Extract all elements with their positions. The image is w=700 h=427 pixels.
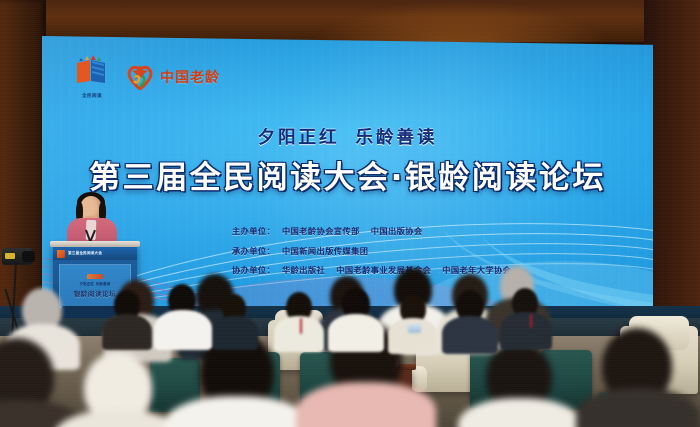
organizer-value: 中国出版协会 [371,226,423,236]
organizer-label: 承办单位： [232,242,282,262]
lanyard [300,318,302,334]
audience-shoulders [500,312,552,350]
organizer-row: 主办单位：中国老龄协会宣传部中国出版协会 [232,222,522,242]
organizer-value: 华龄出版社 [282,265,325,275]
organizer-row: 承办单位：中国新闻出版传媒集团 [232,242,522,262]
audience-shoulders [164,396,310,427]
audience-shoulders [458,398,582,427]
audience-shoulders [296,382,436,427]
quanmin-yuedu-book-logo: 全民阅读 [74,54,108,90]
organizer-value: 中国老年大学协会 [442,265,511,275]
organizer-value: 中国老龄协会宣传部 [282,226,360,236]
audience-shoulders [102,314,152,350]
lanyard [530,314,532,328]
audience-shoulders [154,310,212,350]
organizer-label: 主办单位： [232,222,282,242]
subtitle-right: 乐龄善读 [356,128,438,148]
conference-photo: 全民阅读 中国老龄 夕阳正红乐龄善读 第三届全民阅读大会·银龄阅读论坛 主办单位… [0,0,700,427]
heart-logo-text: 中国老龄 [160,67,220,87]
organizer-value: 中国新闻出版传媒集团 [282,246,368,256]
camera-label [5,253,15,259]
screen-main-title: 第三届全民阅读大会·银龄阅读论坛 [42,152,653,197]
podium-banner: 第三届全民阅读大会 [53,247,137,260]
china-ageing-heart-logo: 中国老龄 [126,63,220,90]
audience-shoulders [328,314,384,352]
heart-logo-icon [126,63,154,90]
camera-lens-icon [22,251,35,262]
name-badge [408,324,421,333]
audience-shoulders [442,316,498,354]
open-book-icon [74,54,108,84]
podium-banner-text: 第三届全民阅读大会 [68,251,102,256]
organizer-block: 主办单位：中国老龄协会宣传部中国出版协会 承办单位：中国新闻出版传媒集团 协办单… [232,222,522,281]
audience-shoulders [274,316,324,352]
audience-shoulders [212,316,258,350]
organizer-label: 协办单位： [232,261,282,281]
book-logo-caption: 全民阅读 [73,93,111,99]
audience-near-stage [0,288,700,348]
podium-panel-logo-icon [87,274,103,279]
podium-banner-logo-icon [57,250,65,258]
screen-subtitle: 夕阳正红乐龄善读 [42,124,653,149]
screen-logo-row: 全民阅读 中国老龄 [74,54,220,90]
subtitle-left: 夕阳正红 [258,128,340,148]
audience-shoulders [576,388,700,427]
